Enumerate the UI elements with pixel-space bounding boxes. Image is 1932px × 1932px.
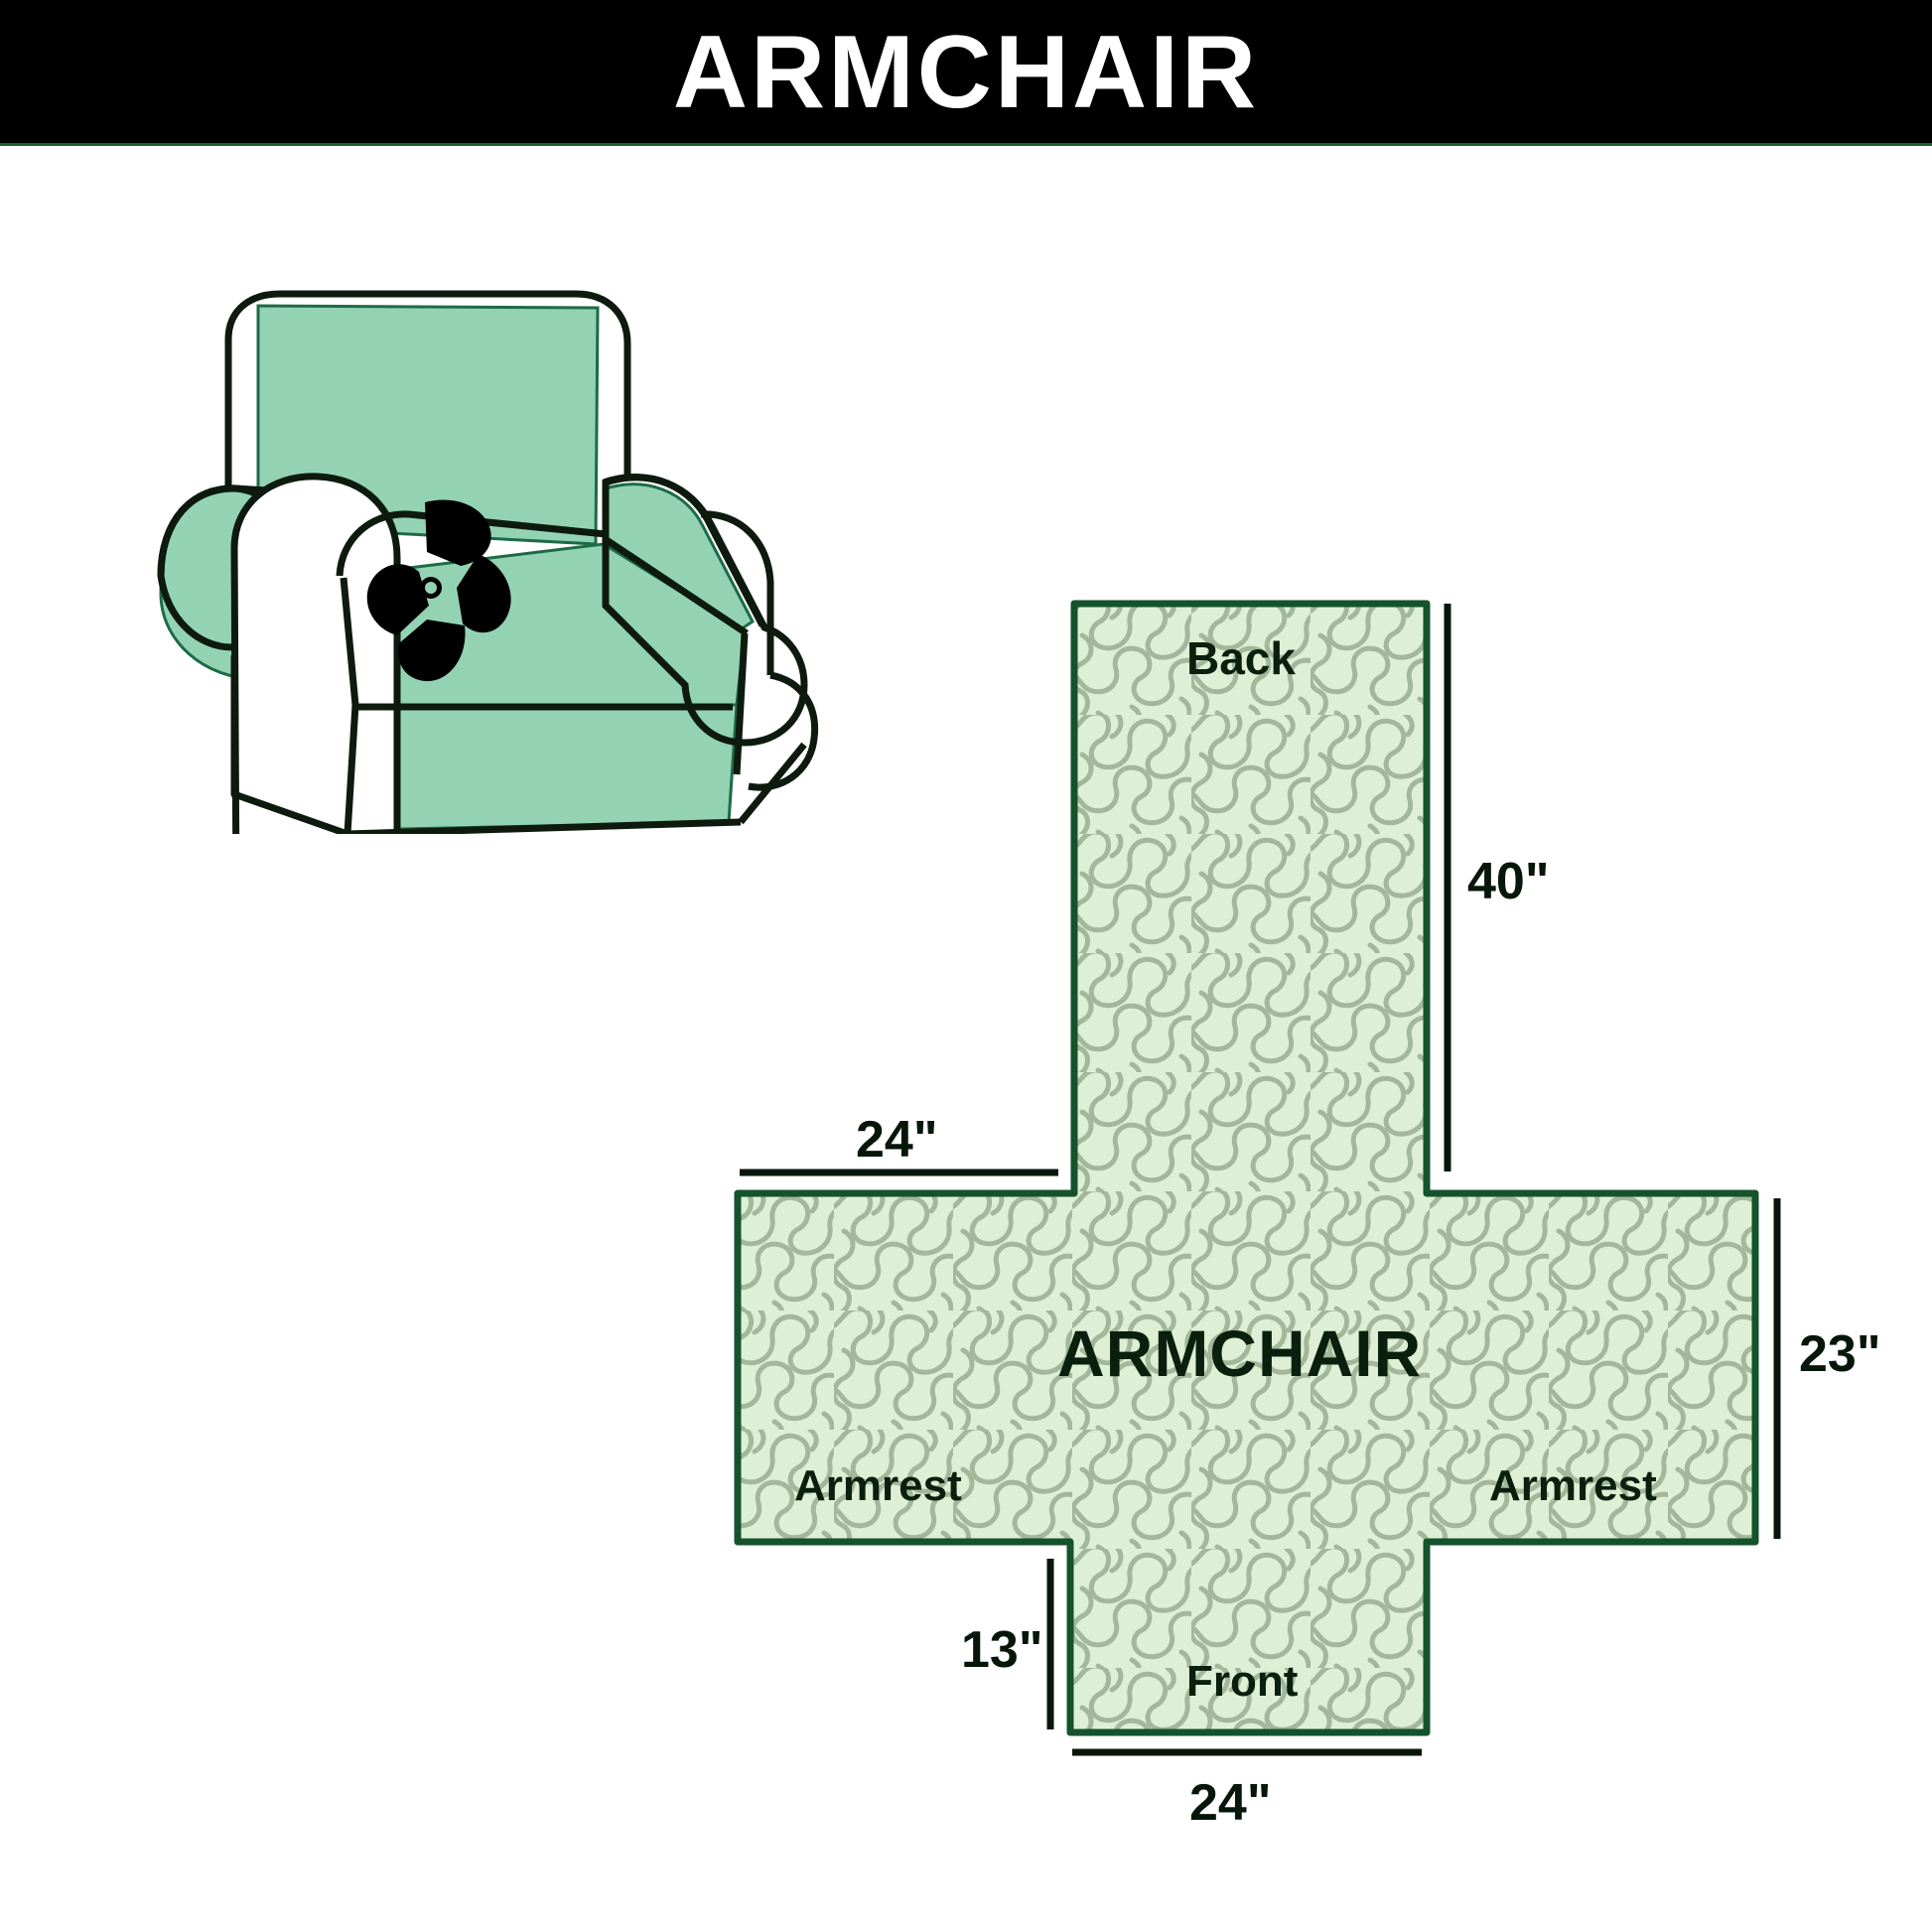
panel-label-back: Back [1186, 635, 1296, 681]
dimension-label-center-height: 23" [1799, 1328, 1881, 1380]
panel-label-front: Front [1186, 1660, 1298, 1704]
panel-label-center: ARMCHAIR [1057, 1320, 1422, 1386]
dimension-label-front-width: 24" [1189, 1777, 1272, 1829]
dimension-label-front-height: 13" [961, 1624, 1043, 1676]
panel-label-armrest-left: Armrest [794, 1464, 962, 1508]
dimension-label-back-width: 24" [856, 1114, 938, 1166]
page-root: ARMCHAIR [0, 0, 1932, 1932]
panel-label-armrest-right: Armrest [1489, 1464, 1657, 1508]
dimension-label-back-height: 40" [1467, 856, 1550, 907]
